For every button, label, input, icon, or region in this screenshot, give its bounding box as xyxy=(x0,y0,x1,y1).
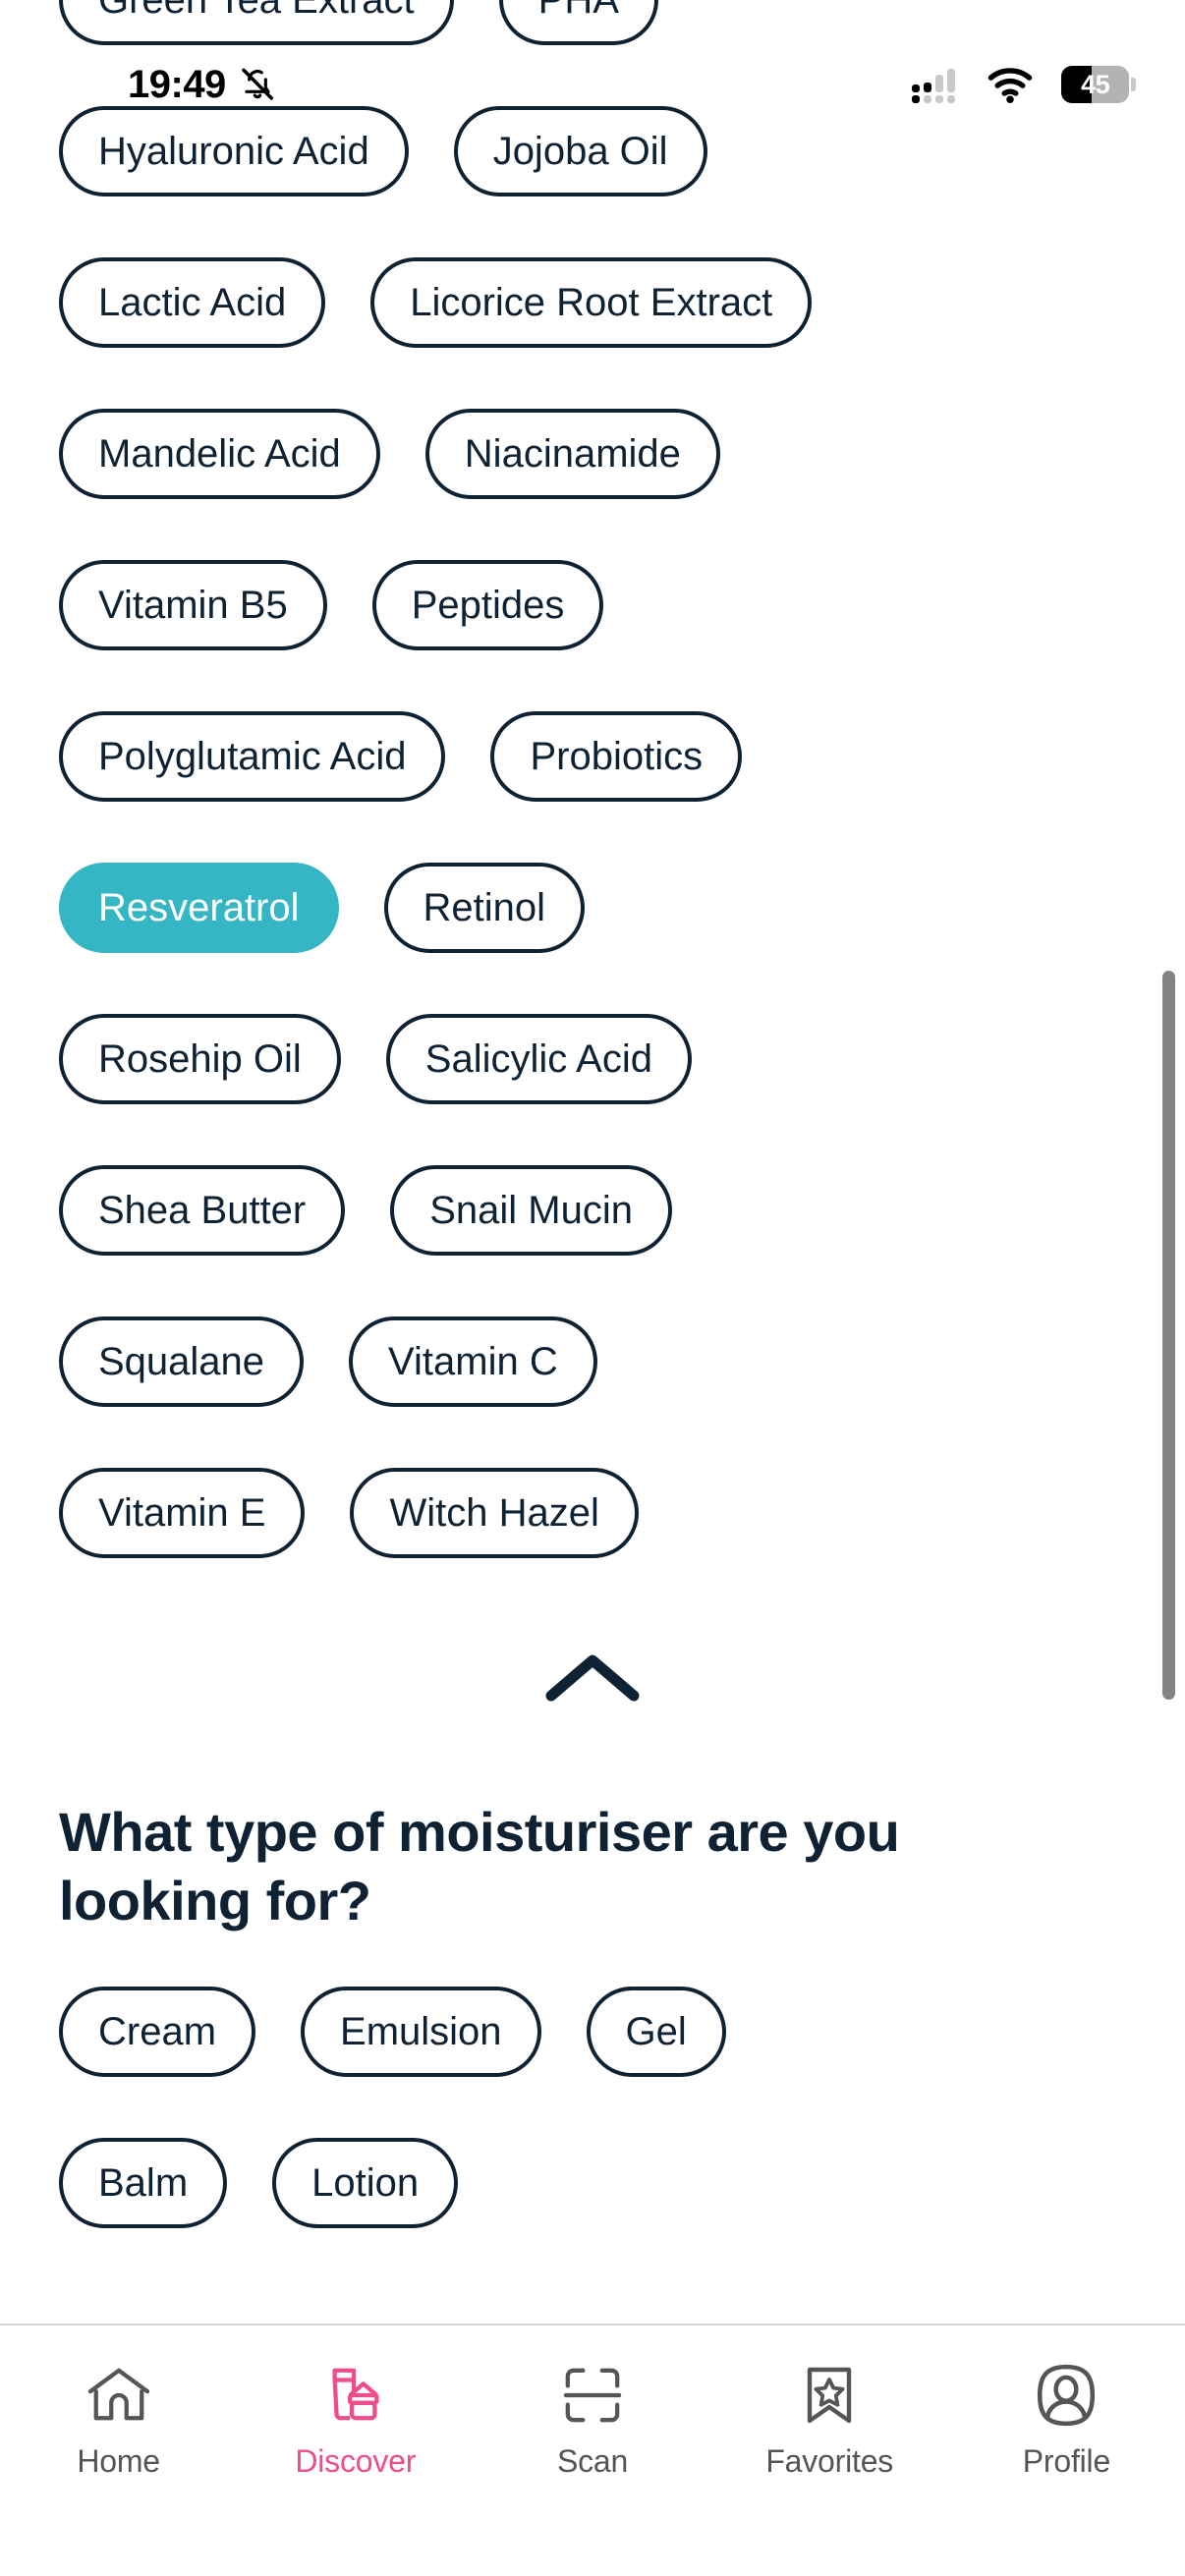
moisturiser-chip-group: CreamEmulsionGelBalmLotion xyxy=(59,1987,1126,2228)
ingredient-chip[interactable]: Shea Butter xyxy=(59,1165,345,1256)
moisturiser-type-chip[interactable]: Balm xyxy=(59,2138,227,2228)
ingredient-chip[interactable]: Hyaluronic Acid xyxy=(59,106,409,196)
nav-label-scan: Scan xyxy=(557,2443,628,2480)
ingredient-chip[interactable]: Retinol xyxy=(384,863,586,953)
moisturiser-type-chip[interactable]: Gel xyxy=(587,1987,726,2077)
nav-label-profile: Profile xyxy=(1023,2443,1110,2480)
home-icon xyxy=(81,2357,157,2434)
ingredient-chip[interactable]: Peptides xyxy=(372,560,604,650)
scroll-content[interactable]: Green Tea ExtractPHAHyaluronic AcidJojob… xyxy=(0,0,1185,2324)
chevron-up-icon xyxy=(543,1649,642,1708)
moisturiser-type-row: CreamEmulsionGel xyxy=(59,1987,1126,2077)
moisturiser-type-chip[interactable]: Emulsion xyxy=(301,1987,541,2077)
ingredient-chip[interactable]: Mandelic Acid xyxy=(59,409,380,499)
ingredient-chip[interactable]: Lactic Acid xyxy=(59,257,325,348)
ingredient-chip[interactable]: Squalane xyxy=(59,1316,304,1407)
ingredient-chip[interactable]: Rosehip Oil xyxy=(59,1014,341,1104)
ingredient-chip[interactable]: Polyglutamic Acid xyxy=(59,711,445,802)
nav-label-favorites: Favorites xyxy=(765,2443,893,2480)
ingredient-row: SqualaneVitamin C xyxy=(59,1316,1126,1407)
ingredient-row: Green Tea ExtractPHA xyxy=(59,0,1126,45)
ingredient-chip[interactable]: PHA xyxy=(499,0,658,45)
scrollbar-track[interactable] xyxy=(1161,0,1175,2324)
ingredient-chip-group: Green Tea ExtractPHAHyaluronic AcidJojob… xyxy=(0,0,1185,1558)
ingredient-chip[interactable]: Vitamin B5 xyxy=(59,560,327,650)
scrollbar-thumb[interactable] xyxy=(1162,971,1175,1700)
ingredient-chip[interactable]: Niacinamide xyxy=(425,409,720,499)
nav-item-scan[interactable]: Scan xyxy=(474,2325,710,2480)
cosmetics-icon xyxy=(317,2357,394,2434)
ingredient-chip[interactable]: Salicylic Acid xyxy=(386,1014,692,1104)
ingredient-chip[interactable]: Resveratrol xyxy=(59,863,339,953)
ingredient-chip[interactable]: Green Tea Extract xyxy=(59,0,454,45)
nav-label-discover: Discover xyxy=(295,2443,416,2480)
ingredient-chip[interactable]: Vitamin C xyxy=(349,1316,597,1407)
moisturiser-question-section: What type of moisturiser are you looking… xyxy=(0,1798,1185,2228)
moisturiser-type-chip[interactable]: Cream xyxy=(59,1987,255,2077)
person-icon xyxy=(1028,2357,1104,2434)
ingredient-row: Polyglutamic AcidProbiotics xyxy=(59,711,1126,802)
ingredient-row: Lactic AcidLicorice Root Extract xyxy=(59,257,1126,348)
nav-item-home[interactable]: Home xyxy=(0,2325,237,2480)
collapse-ingredients-button[interactable] xyxy=(514,1624,671,1732)
app-root: Green Tea ExtractPHAHyaluronic AcidJojob… xyxy=(0,0,1185,2576)
ingredient-chip[interactable]: Witch Hazel xyxy=(350,1468,638,1558)
ingredient-row: Mandelic AcidNiacinamide xyxy=(59,409,1126,499)
ingredient-row: ResveratrolRetinol xyxy=(59,863,1126,953)
collapse-section-row xyxy=(0,1619,1185,1737)
ingredient-chip[interactable]: Vitamin E xyxy=(59,1468,305,1558)
moisturiser-type-row: BalmLotion xyxy=(59,2138,1126,2228)
nav-label-home: Home xyxy=(77,2443,160,2480)
nav-item-discover[interactable]: Discover xyxy=(237,2325,474,2480)
scan-icon xyxy=(554,2357,631,2434)
moisturiser-question-title: What type of moisturiser are you looking… xyxy=(59,1798,1051,1935)
ingredient-row: Vitamin B5Peptides xyxy=(59,560,1126,650)
nav-item-favorites[interactable]: Favorites xyxy=(711,2325,948,2480)
nav-item-profile[interactable]: Profile xyxy=(948,2325,1185,2480)
ingredient-chip[interactable]: Licorice Root Extract xyxy=(370,257,812,348)
ingredient-row: Hyaluronic AcidJojoba Oil xyxy=(59,106,1126,196)
bookmark-star-icon xyxy=(791,2357,868,2434)
bottom-navigation-bar: HomeDiscoverScanFavoritesProfile xyxy=(0,2324,1185,2576)
moisturiser-type-chip[interactable]: Lotion xyxy=(272,2138,458,2228)
ingredient-row: Rosehip OilSalicylic Acid xyxy=(59,1014,1126,1104)
ingredient-row: Vitamin EWitch Hazel xyxy=(59,1468,1126,1558)
ingredient-chip[interactable]: Snail Mucin xyxy=(390,1165,672,1256)
ingredient-chip[interactable]: Jojoba Oil xyxy=(454,106,707,196)
ingredient-row: Shea ButterSnail Mucin xyxy=(59,1165,1126,1256)
ingredient-chip[interactable]: Probiotics xyxy=(490,711,742,802)
